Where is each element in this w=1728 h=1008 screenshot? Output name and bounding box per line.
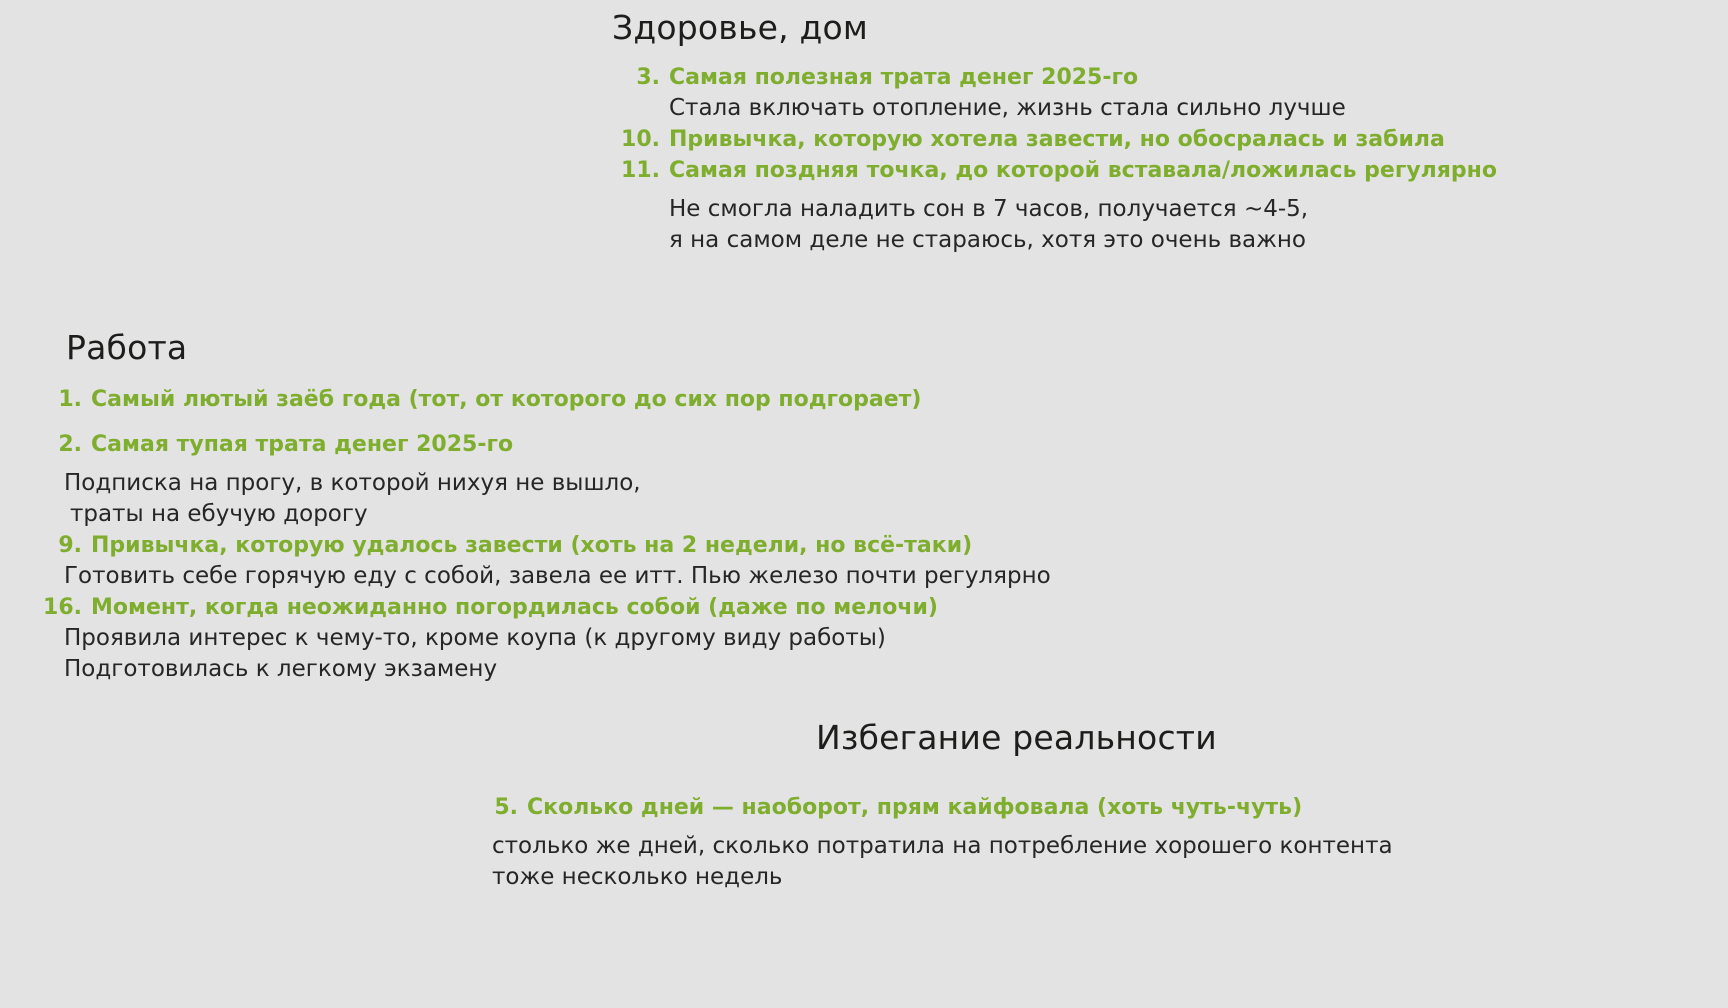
item-number: 5.: [0, 792, 518, 823]
item-number: 2.: [0, 429, 82, 460]
item-number: 11.: [612, 155, 660, 186]
section-health-home: Здоровье, дом 3. Самая полезная трата де…: [612, 8, 1672, 256]
item-answer-line: траты на ебучую дорогу: [0, 499, 1100, 530]
section-title-work: Работа: [66, 328, 1100, 368]
item-answer-line: Подготовилась к легкому экзамену: [0, 654, 1100, 685]
list-item: 3. Самая полезная трата денег 2025-го: [612, 62, 1672, 93]
item-number: 9.: [0, 530, 82, 561]
item-answer-line: столько же дней, сколько потратила на по…: [0, 831, 1400, 862]
list-item: 2. Самая тупая трата денег 2025-го: [0, 429, 1100, 460]
item-number: 1.: [0, 384, 82, 415]
item-heading: Привычка, которую удалось завести (хоть …: [82, 530, 972, 561]
item-number: 3.: [612, 62, 660, 93]
item-heading: Привычка, которую хотела завести, но обо…: [660, 124, 1445, 155]
section-escaping-reality: Избегание реальности 5. Сколько дней — н…: [0, 718, 1400, 893]
slide-canvas: Здоровье, дом 3. Самая полезная трата де…: [0, 0, 1728, 1008]
item-heading: Момент, когда неожиданно погордилась соб…: [82, 592, 938, 623]
section-work: Работа 1. Самый лютый заёб года (тот, от…: [0, 328, 1100, 685]
item-answer-line: Проявила интерес к чему-то, кроме коупа …: [0, 623, 1100, 654]
list-item: 10. Привычка, которую хотела завести, но…: [612, 124, 1672, 155]
item-answer-line: Подписка на прогу, в которой нихуя не вы…: [0, 468, 1100, 499]
spacer: [0, 460, 1100, 468]
section-title-health-home: Здоровье, дом: [612, 8, 1672, 48]
item-answer-line: я на самом деле не стараюсь, хотя это оч…: [612, 225, 1672, 256]
section-title-escaping-reality: Избегание реальности: [816, 718, 1400, 758]
item-answer-line: тоже несколько недель: [0, 862, 1400, 893]
item-heading: Самая полезная трата денег 2025-го: [660, 62, 1138, 93]
item-answer-line: Готовить себе горячую еду с собой, завел…: [0, 561, 1100, 592]
item-heading: Самая тупая трата денег 2025-го: [82, 429, 513, 460]
item-number: 10.: [612, 124, 660, 155]
list-item: 11. Самая поздняя точка, до которой вста…: [612, 155, 1672, 186]
list-item: 9. Привычка, которую удалось завести (хо…: [0, 530, 1100, 561]
spacer: [0, 415, 1100, 429]
item-answer-line: Стала включать отопление, жизнь стала си…: [612, 93, 1672, 124]
list-item: 5. Сколько дней — наоборот, прям кайфова…: [0, 792, 1400, 823]
list-item: 16. Момент, когда неожиданно погордилась…: [0, 592, 1100, 623]
spacer: [612, 186, 1672, 194]
item-heading: Сколько дней — наоборот, прям кайфовала …: [518, 792, 1302, 823]
item-heading: Самая поздняя точка, до которой вставала…: [660, 155, 1497, 186]
item-answer-line: Не смогла наладить сон в 7 часов, получа…: [612, 194, 1672, 225]
spacer: [0, 823, 1400, 831]
item-number: 16.: [0, 592, 82, 623]
list-item: 1. Самый лютый заёб года (тот, от которо…: [0, 384, 1100, 415]
item-heading: Самый лютый заёб года (тот, от которого …: [82, 384, 921, 415]
